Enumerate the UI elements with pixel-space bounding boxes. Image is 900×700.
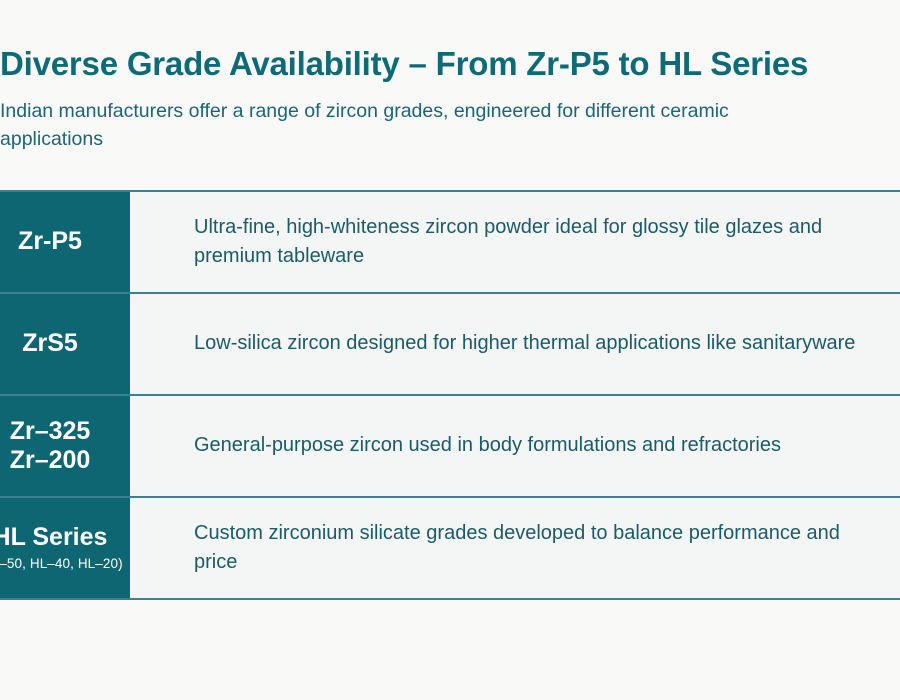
table-row: Zr-P5 Ultra-fine, high-whiteness zircon …	[0, 192, 900, 294]
grade-label-cell: Zr-P5	[0, 192, 130, 292]
grade-name-variants: (HL–50, HL–40, HL–20)	[0, 555, 123, 573]
grade-description-cell: General-purpose zircon used in body form…	[130, 396, 900, 496]
page-subtitle: Indian manufacturers offer a range of zi…	[0, 98, 760, 153]
grade-description-cell: Custom zirconium silicate grades develop…	[130, 498, 900, 598]
grade-label-cell: Zr–325 Zr–200	[0, 396, 130, 496]
page-title: Diverse Grade Availability – From Zr-P5 …	[0, 44, 900, 84]
grade-description-text: General-purpose zircon used in body form…	[194, 431, 781, 460]
grade-name-line-2: Zr–200	[10, 446, 91, 476]
grade-description-text: Ultra-fine, high-whiteness zircon powder…	[194, 213, 876, 271]
table-row: HL Series (HL–50, HL–40, HL–20) Custom z…	[0, 498, 900, 598]
table-row: ZrS5 Low-silica zircon designed for high…	[0, 294, 900, 396]
grade-description-text: Custom zirconium silicate grades develop…	[194, 519, 876, 577]
grade-name: HL Series	[0, 523, 107, 553]
grade-label-cell: ZrS5	[0, 294, 130, 394]
grade-description-cell: Low-silica zircon designed for higher th…	[130, 294, 900, 394]
grade-availability-table: Zr-P5 Ultra-fine, high-whiteness zircon …	[0, 190, 900, 600]
table-row: Zr–325 Zr–200 General-purpose zircon use…	[0, 396, 900, 498]
grade-description-cell: Ultra-fine, high-whiteness zircon powder…	[130, 192, 900, 292]
slide-canvas: Diverse Grade Availability – From Zr-P5 …	[0, 0, 900, 700]
grade-name: ZrS5	[22, 329, 78, 359]
grade-name: Zr-P5	[18, 227, 82, 257]
grade-label-cell: HL Series (HL–50, HL–40, HL–20)	[0, 498, 130, 598]
grade-description-text: Low-silica zircon designed for higher th…	[194, 329, 855, 358]
grade-name-line-1: Zr–325	[10, 417, 91, 447]
